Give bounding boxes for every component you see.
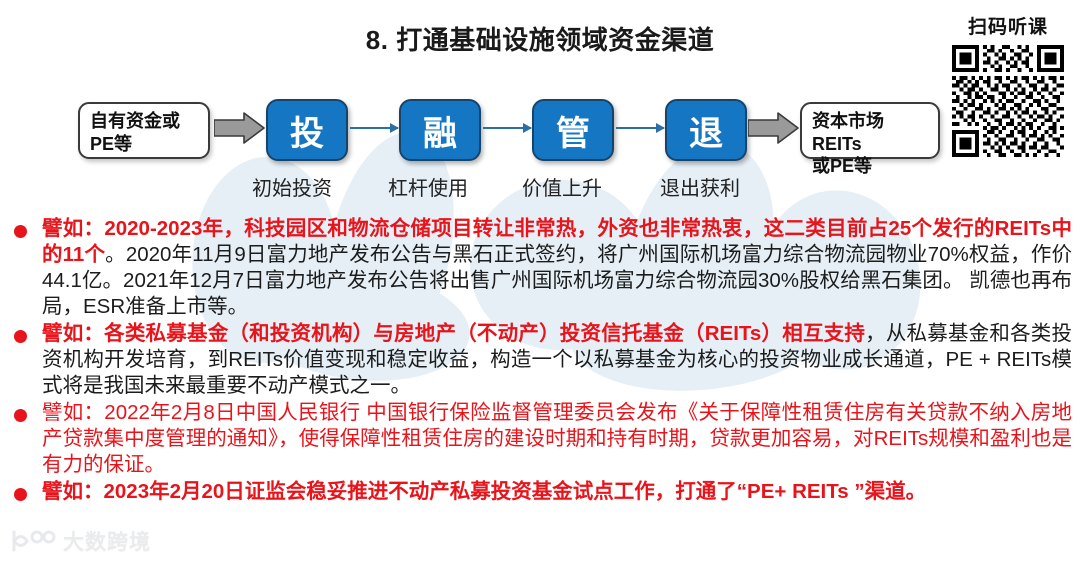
flow-caption-1: 初始投资 bbox=[252, 172, 332, 201]
flow-end-node: 资本市场REITs 或PE等 bbox=[800, 102, 940, 159]
fat-arrow-icon bbox=[214, 111, 266, 145]
slide-canvas: 8. 打通基础设施领域资金渠道 扫码听课 bbox=[0, 0, 1080, 562]
flow-arrow-fat-end bbox=[748, 111, 800, 150]
flow-arrow-fat-start bbox=[214, 111, 266, 150]
brand-watermark: 大数跨境 bbox=[10, 526, 151, 556]
bullet-dot-icon bbox=[14, 330, 27, 343]
flow-end-node-label: 资本市场REITs 或PE等 bbox=[812, 111, 884, 176]
flow-step-char-3: 管 bbox=[556, 106, 590, 155]
bullet-dot-icon bbox=[14, 488, 27, 501]
flow-step-node-4: 退 bbox=[665, 99, 747, 161]
bullet-3-seg-red: 譬如：2022年2月8日中国人民银行 中国银行保险监督管理委员会发布《关于保障性… bbox=[42, 401, 1072, 476]
bullet-paragraph-1: 譬如：2020-2023年，科技园区和物流仓储项目转让非常热，外资也非常热衷，这… bbox=[42, 216, 1072, 320]
flow-step-node-1: 投 bbox=[266, 99, 348, 161]
bullet-paragraph-2: 譬如：各类私募基金（和投资机构）与房地产（不动产）投资信托基金（REITs）相互… bbox=[42, 321, 1072, 399]
list-item: 譬如：各类私募基金（和投资机构）与房地产（不动产）投资信托基金（REITs）相互… bbox=[0, 321, 1080, 399]
list-item: 譬如：2023年2月20日证监会稳妥推进不动产私募投资基金试点工作，打通了“PE… bbox=[0, 479, 1080, 505]
qr-block: 扫码听课 bbox=[944, 12, 1072, 160]
flow-caption-2: 杠杆使用 bbox=[388, 172, 468, 201]
qr-code-icon[interactable] bbox=[949, 42, 1067, 160]
bullet-paragraph-4: 譬如：2023年2月20日证监会稳妥推进不动产私募投资基金试点工作，打通了“PE… bbox=[42, 479, 1072, 505]
flow-step-char-2: 融 bbox=[423, 106, 457, 155]
bullet-list: 譬如：2020-2023年，科技园区和物流仓储项目转让非常热，外资也非常热衷，这… bbox=[0, 216, 1080, 506]
page-title: 8. 打通基础设施领域资金渠道 bbox=[0, 20, 1080, 57]
qr-code-svg bbox=[952, 45, 1064, 157]
flow-caption-3: 价值上升 bbox=[522, 172, 602, 201]
flow-step-char-1: 投 bbox=[290, 106, 324, 155]
bullet-2-seg-red: 譬如：各类私募基金（和投资机构）与房地产（不动产）投资信托基金（REITs）相互… bbox=[42, 322, 865, 345]
list-item: 譬如：2022年2月8日中国人民银行 中国银行保险监督管理委员会发布《关于保障性… bbox=[0, 400, 1080, 478]
flow-step-node-3: 管 bbox=[532, 99, 614, 161]
bullet-dot-icon bbox=[14, 409, 27, 422]
qr-label: 扫码听课 bbox=[944, 12, 1072, 39]
brand-watermark-text: 大数跨境 bbox=[63, 526, 151, 556]
flow-caption-4: 退出获利 bbox=[660, 172, 740, 201]
bullet-4-seg-red: 譬如：2023年2月20日证监会稳妥推进不动产私募投资基金试点工作，打通了“PE… bbox=[42, 480, 926, 503]
flow-arrow-3 bbox=[616, 127, 664, 129]
bullet-paragraph-3: 譬如：2022年2月8日中国人民银行 中国银行保险监督管理委员会发布《关于保障性… bbox=[42, 400, 1072, 478]
flow-start-node-label: 自有资金或 PE等 bbox=[90, 111, 180, 154]
flow-arrow-1 bbox=[350, 127, 398, 129]
flow-captions: 初始投资 杠杆使用 价值上升 退出获利 bbox=[0, 172, 1080, 202]
list-item: 譬如：2020-2023年，科技园区和物流仓储项目转让非常热，外资也非常热衷，这… bbox=[0, 216, 1080, 320]
bullet-1-seg-black: 。2020年11月9日富力地产发布公告与黑石正式签约，将广州国际机场富力综合物流… bbox=[42, 243, 1072, 318]
flow-step-char-4: 退 bbox=[689, 106, 723, 155]
flow-start-node: 自有资金或 PE等 bbox=[78, 102, 210, 159]
bullet-dot-icon bbox=[14, 225, 27, 238]
fat-arrow-icon bbox=[748, 111, 800, 145]
flow-step-node-2: 融 bbox=[399, 99, 481, 161]
brand-logo-icon bbox=[10, 529, 56, 553]
flow-arrow-2 bbox=[483, 127, 531, 129]
